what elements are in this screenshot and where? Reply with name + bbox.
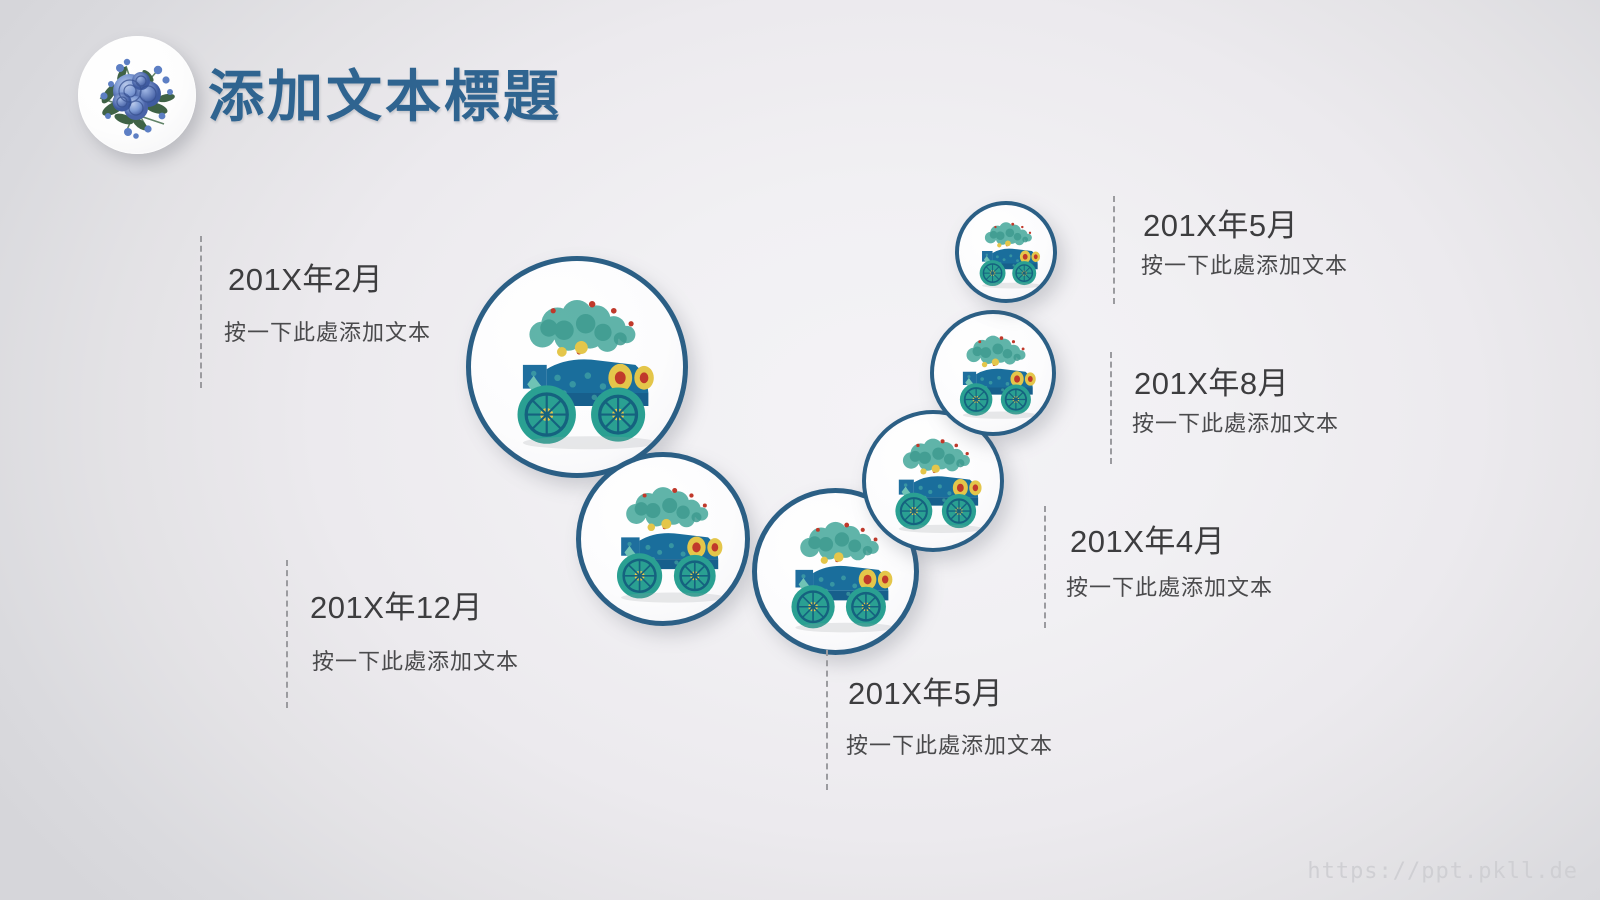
- timeline-node-5[interactable]: [930, 310, 1056, 436]
- floral-vintage-car-icon: [934, 314, 1052, 432]
- timeline-node-1[interactable]: [466, 256, 688, 478]
- floral-vintage-car-icon: [581, 457, 745, 621]
- label-title: 201X年5月: [848, 668, 1003, 713]
- timeline-circle-chain: [0, 0, 1600, 900]
- label-title: 201X年12月: [310, 582, 483, 627]
- label-description: 按一下此處添加文本: [1141, 248, 1348, 280]
- dashed-rule: [1113, 196, 1115, 304]
- label-title: 201X年8月: [1134, 358, 1289, 403]
- floral-vintage-car-icon: [959, 205, 1053, 299]
- label-title: 201X年4月: [1070, 516, 1225, 561]
- dashed-rule: [286, 560, 288, 708]
- dashed-rule: [1044, 506, 1046, 628]
- floral-vintage-car-icon: [471, 261, 683, 473]
- label-description: 按一下此處添加文本: [1132, 406, 1339, 438]
- timeline-node-2[interactable]: [576, 452, 750, 626]
- dashed-rule: [826, 650, 828, 790]
- label-description: 按一下此處添加文本: [846, 728, 1053, 760]
- label-title: 201X年5月: [1143, 200, 1298, 245]
- watermark: https://ppt.pkll.de: [1307, 859, 1578, 884]
- dashed-rule: [1110, 352, 1112, 464]
- label-description: 按一下此處添加文本: [224, 315, 431, 347]
- label-description: 按一下此處添加文本: [1066, 570, 1273, 602]
- dashed-rule: [200, 236, 202, 388]
- label-title: 201X年2月: [228, 254, 383, 299]
- label-description: 按一下此處添加文本: [312, 644, 519, 676]
- timeline-node-6[interactable]: [955, 201, 1057, 303]
